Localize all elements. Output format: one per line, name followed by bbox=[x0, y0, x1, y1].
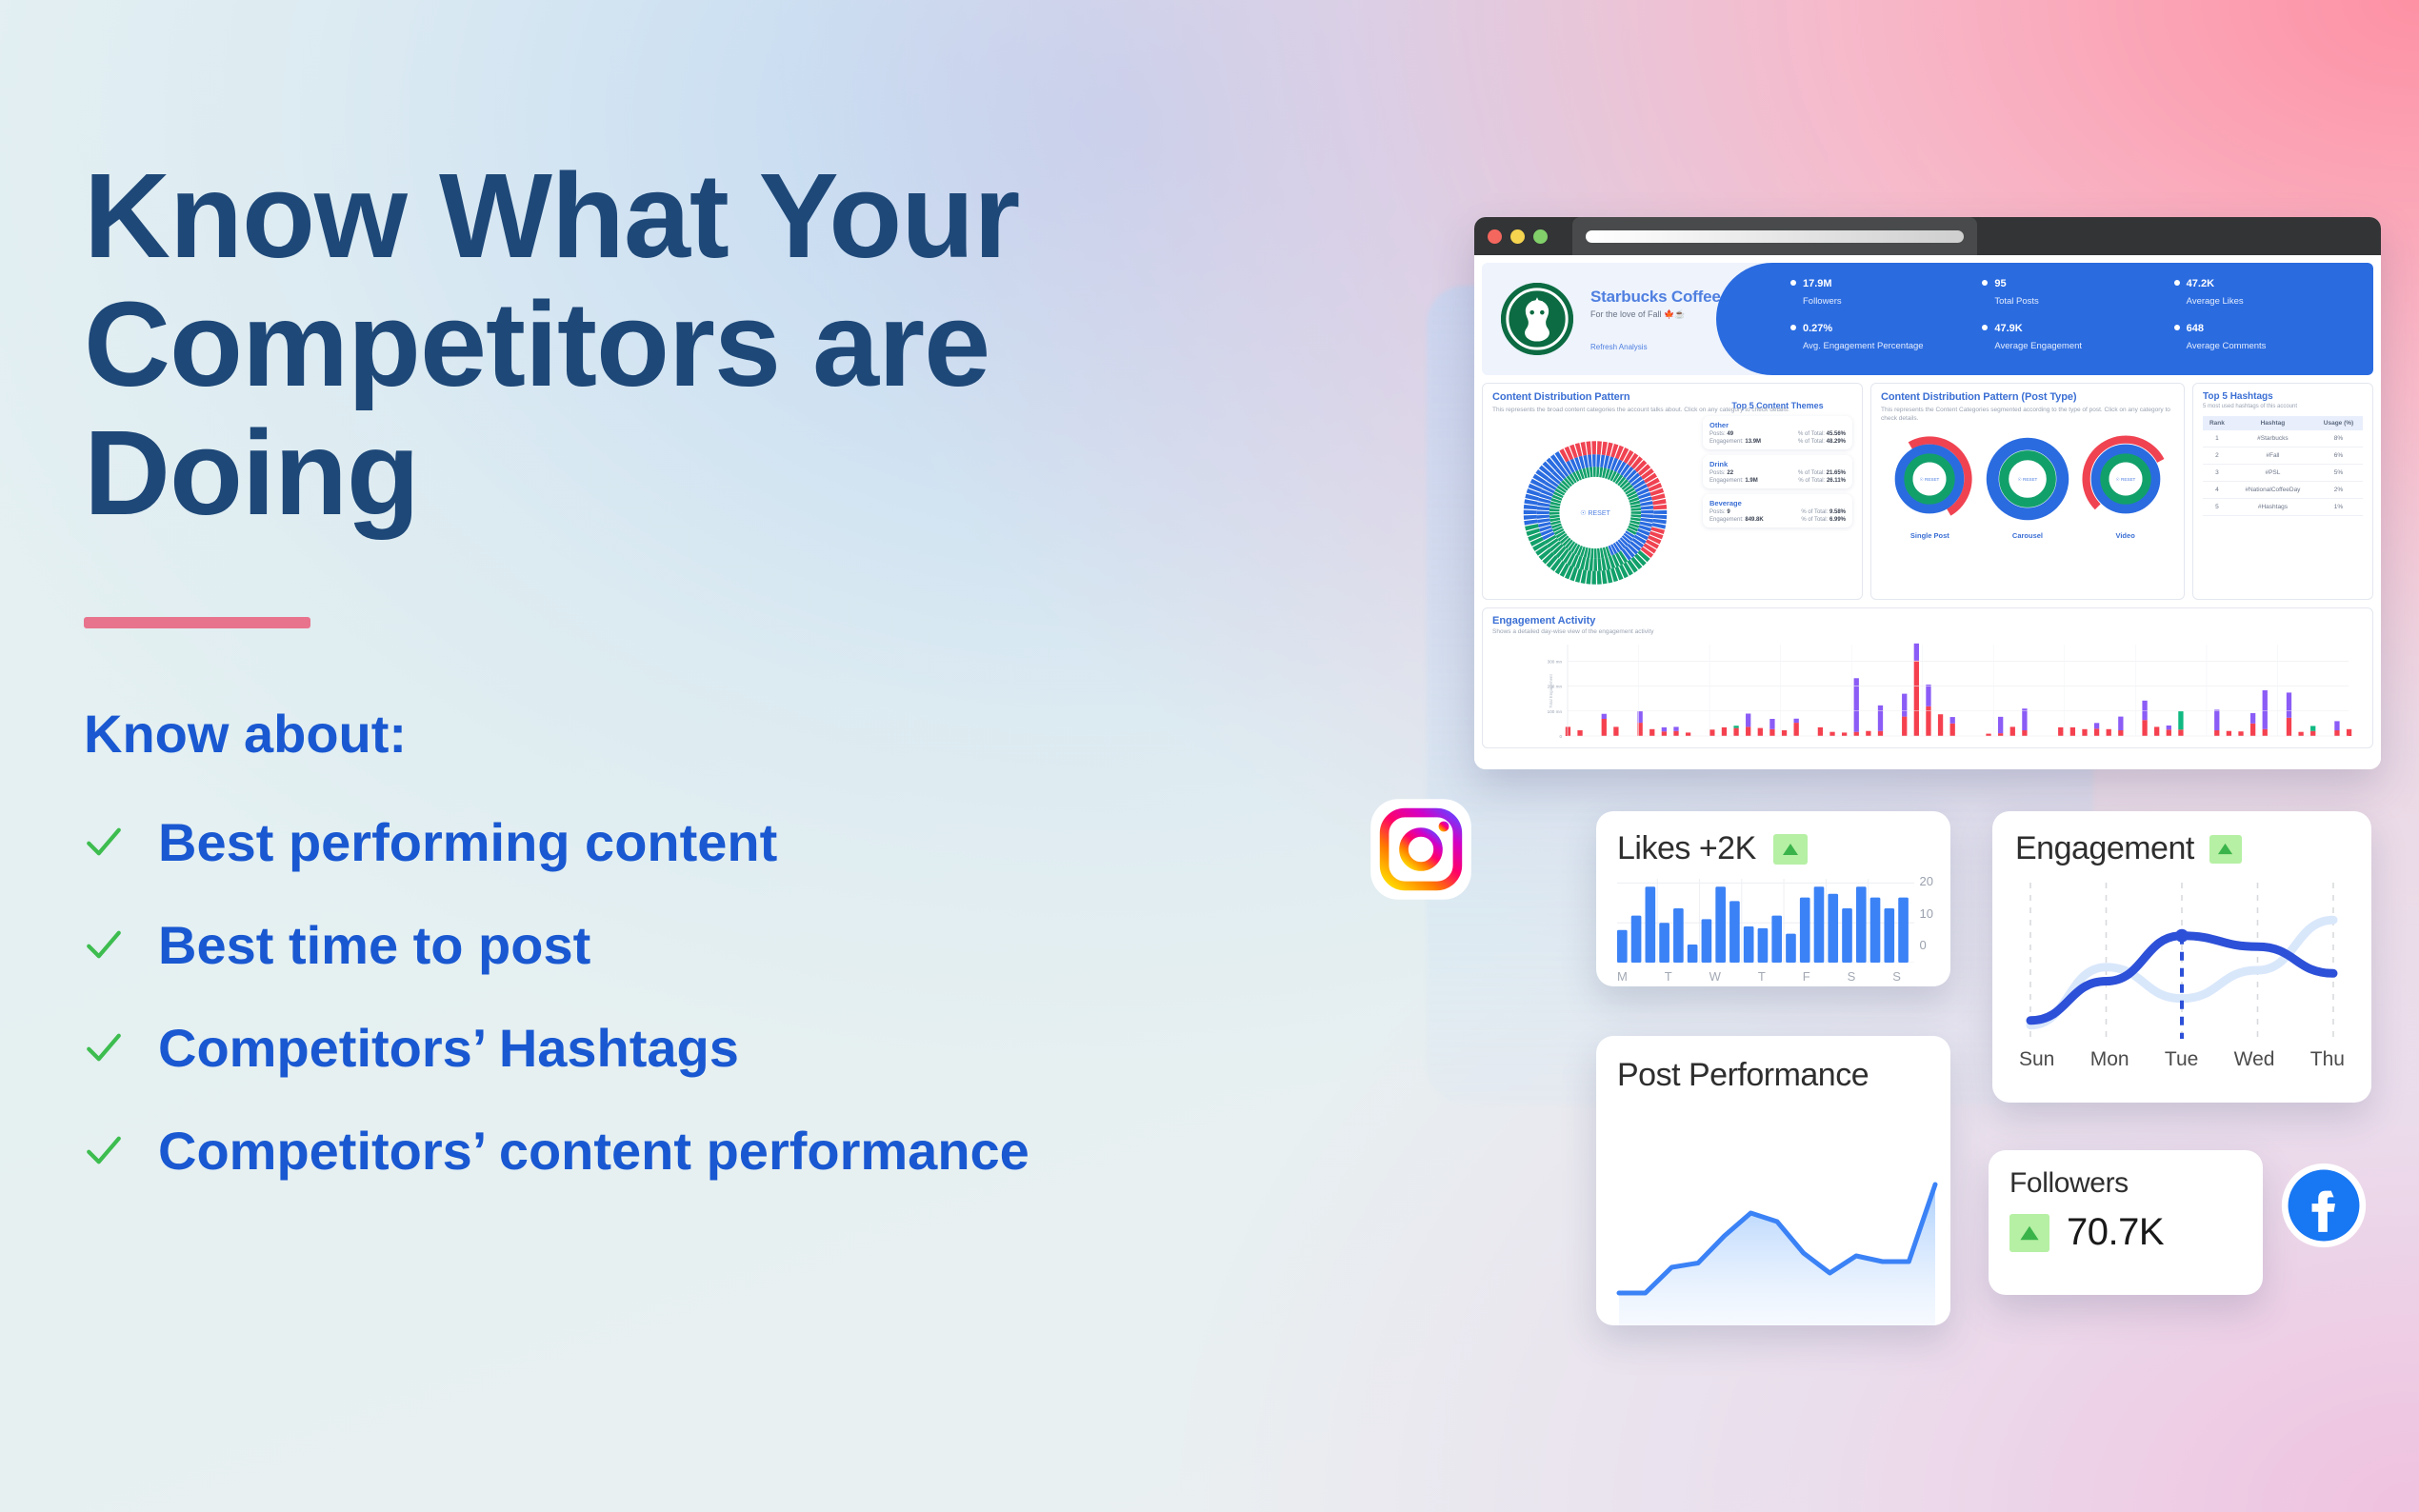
theme-posts-pct-value: 9.58% bbox=[1829, 509, 1846, 515]
theme-card[interactable]: Beverage Posts: 9 % of Total: 9.58% Enga… bbox=[1703, 494, 1852, 527]
cell-hashtag: #PSL bbox=[2231, 465, 2314, 482]
profile-header: Starbucks Coffee ☕ For the love of Fall … bbox=[1482, 263, 2373, 375]
check-icon bbox=[84, 925, 124, 965]
svg-text:0: 0 bbox=[1559, 734, 1562, 739]
x-tick-t2: T bbox=[1758, 969, 1766, 984]
card-likes: Likes +2K 20 10 0 M T W T F S S bbox=[1596, 811, 1950, 986]
cell-hashtag: #Fall bbox=[2231, 448, 2314, 465]
cell-usage: 2% bbox=[2314, 482, 2363, 499]
likes-x-axis: M T W T F S S bbox=[1617, 969, 1929, 984]
column-header-rank: Rank bbox=[2203, 416, 2231, 430]
theme-posts-pct-label: % of Total bbox=[1798, 431, 1823, 437]
tab-title-placeholder bbox=[1586, 230, 1964, 243]
engagement-activity-chart[interactable]: 0100 mn200 mn300 mnTotal Engagement bbox=[1492, 639, 2363, 744]
theme-eng-pct-value: 26.11% bbox=[1827, 478, 1846, 484]
x-tick-s2: S bbox=[1892, 969, 1901, 984]
donut-reset-label[interactable]: ☉ RESET bbox=[2115, 477, 2135, 482]
sunburst-svg: ☉ RESET bbox=[1500, 429, 1690, 596]
theme-card[interactable]: Other Posts: 49 % of Total: 45.56% Engag… bbox=[1703, 416, 1852, 449]
svg-text:Total Engagement: Total Engagement bbox=[1549, 674, 1553, 708]
cell-usage: 8% bbox=[2314, 430, 2363, 448]
panel-subtitle: 5 most used hashtags of this account bbox=[2203, 404, 2363, 409]
maximize-icon[interactable] bbox=[1533, 229, 1548, 244]
stat-total-posts: 95 Total Posts bbox=[1982, 274, 2164, 319]
card-title: Followers bbox=[2009, 1167, 2242, 1200]
facebook-icon[interactable] bbox=[2278, 1160, 2369, 1251]
theme-posts-value: 9 bbox=[1727, 509, 1729, 515]
stat-average-comments: 648 Average Comments bbox=[2174, 319, 2356, 364]
refresh-analysis-link[interactable]: Refresh Analysis bbox=[1590, 343, 1739, 351]
cell-usage: 1% bbox=[2314, 499, 2363, 516]
theme-posts-pct-value: 45.56% bbox=[1827, 431, 1846, 437]
donut-reset-label[interactable]: ☉ RESET bbox=[1920, 477, 1940, 482]
stat-label: Avg. Engagement Percentage bbox=[1803, 341, 1924, 351]
x-tick-m: M bbox=[1617, 969, 1628, 984]
donut-group: ☉ RESET Single Post ☉ RESET Carousel bbox=[1881, 435, 2174, 540]
panel-title: Engagement Activity bbox=[1492, 615, 2363, 627]
triangle-up-icon bbox=[1781, 841, 1800, 858]
window-chrome bbox=[1474, 217, 2381, 255]
minimize-icon[interactable] bbox=[1510, 229, 1525, 244]
theme-posts-label: Posts bbox=[1709, 470, 1724, 476]
donut-label: Video bbox=[2082, 531, 2169, 540]
theme-posts-value: 22 bbox=[1727, 470, 1733, 476]
table-row[interactable]: 4 #NationalCoffeeDay 2% bbox=[2203, 482, 2363, 499]
trend-up-badge bbox=[2009, 1214, 2049, 1252]
panel-title: Content Distribution Pattern bbox=[1492, 391, 1852, 403]
donut-label: Single Post bbox=[1886, 531, 1973, 540]
card-engagement: Engagement Sun Mon Tue Wed Thu bbox=[1992, 811, 2371, 1103]
engagement-line-chart[interactable] bbox=[2015, 877, 2349, 1046]
x-tick-thu: Thu bbox=[2310, 1048, 2345, 1071]
panel-subtitle: This represents the broad content catego… bbox=[1492, 406, 1852, 414]
donut-single-post[interactable]: ☉ RESET Single Post bbox=[1886, 435, 1973, 540]
theme-eng-pct-label: % of Total bbox=[1798, 478, 1823, 484]
theme-engagement-row: Engagement: 13.9M % of Total: 48.29% bbox=[1709, 439, 1846, 445]
cell-hashtag: #Hashtags bbox=[2231, 499, 2314, 516]
cell-hashtag: #NationalCoffeeDay bbox=[2231, 482, 2314, 499]
theme-posts-row: Posts: 49 % of Total: 45.56% bbox=[1709, 431, 1846, 437]
sunburst-reset-label[interactable]: ☉ RESET bbox=[1580, 509, 1610, 517]
theme-engagement-row: Engagement: 1.9M % of Total: 26.11% bbox=[1709, 478, 1846, 484]
post-performance-svg bbox=[1596, 1144, 1950, 1325]
donut-reset-label[interactable]: ☉ RESET bbox=[2018, 477, 2038, 482]
likes-bar-chart-svg bbox=[1617, 879, 1941, 963]
panel-top-hashtags: Top 5 Hashtags 5 most used hashtags of t… bbox=[2192, 383, 2373, 600]
bullet-dot-icon bbox=[1790, 325, 1796, 330]
donut-chart-svg: ☉ RESET bbox=[1984, 435, 2071, 523]
card-header: Engagement bbox=[2015, 830, 2349, 867]
cell-hashtag: #Starbucks bbox=[2231, 430, 2314, 448]
stat-average-engagement: 47.9K Average Engagement bbox=[1982, 319, 2164, 364]
cell-usage: 6% bbox=[2314, 448, 2363, 465]
list-item-label: Best time to post bbox=[158, 914, 590, 976]
triangle-up-icon bbox=[2018, 1223, 2041, 1243]
stat-followers: 17.9M Followers bbox=[1790, 274, 1972, 319]
theme-posts-row: Posts: 22 % of Total: 21.65% bbox=[1709, 470, 1846, 476]
likes-y-axis: 20 10 0 bbox=[1920, 875, 1933, 951]
trend-up-badge bbox=[1773, 834, 1808, 865]
theme-posts-pct-label: % of Total bbox=[1801, 509, 1826, 515]
x-tick-w: W bbox=[1709, 969, 1721, 984]
theme-eng-value: 849.8K bbox=[1745, 517, 1763, 523]
followers-value: 70.7K bbox=[2067, 1211, 2164, 1254]
avatar bbox=[1501, 283, 1573, 355]
svg-text:300 mn: 300 mn bbox=[1548, 659, 1563, 664]
theme-name: Beverage bbox=[1709, 499, 1846, 507]
donut-label: Carousel bbox=[1984, 531, 2071, 540]
list-item: Competitors’ content performance bbox=[84, 1113, 1417, 1187]
engagement-x-axis: Sun Mon Tue Wed Thu bbox=[2015, 1048, 2349, 1071]
sunburst-chart[interactable]: ☉ RESET bbox=[1492, 433, 1697, 591]
stat-label: Followers bbox=[1803, 296, 1842, 307]
y-tick-0: 0 bbox=[1920, 939, 1933, 951]
cell-rank: 3 bbox=[2203, 465, 2231, 482]
card-title: Engagement bbox=[2015, 830, 2194, 867]
donut-chart-svg: ☉ RESET bbox=[1886, 435, 1973, 523]
column-header-hashtag: Hashtag bbox=[2231, 416, 2314, 430]
stat-average-likes: 47.2K Average Likes bbox=[2174, 274, 2356, 319]
theme-posts-pct-value: 21.65% bbox=[1827, 470, 1846, 476]
card-header: Likes +2K bbox=[1617, 830, 1929, 867]
theme-card[interactable]: Drink Posts: 22 % of Total: 21.65% Engag… bbox=[1703, 455, 1852, 488]
theme-eng-pct-label: % of Total bbox=[1798, 439, 1823, 445]
triangle-up-icon bbox=[2216, 841, 2234, 857]
followers-value-row: 70.7K bbox=[2009, 1211, 2242, 1254]
theme-name: Drink bbox=[1709, 460, 1846, 468]
panel-post-type-distribution: Content Distribution Pattern (Post Type)… bbox=[1870, 383, 2185, 600]
column-header-usage: Usage (%) bbox=[2314, 416, 2363, 430]
browser-tab[interactable] bbox=[1572, 217, 1977, 255]
theme-engagement-row: Engagement: 849.8K % of Total: 6.99% bbox=[1709, 517, 1846, 523]
list-item: Best performing content bbox=[84, 805, 1417, 879]
card-followers: Followers 70.7K bbox=[1989, 1150, 2263, 1295]
bullet-dot-icon bbox=[1982, 280, 1988, 286]
cell-rank: 2 bbox=[2203, 448, 2231, 465]
trend-up-badge bbox=[2209, 835, 2242, 864]
y-tick-10: 10 bbox=[1920, 907, 1933, 920]
stat-value: 17.9M bbox=[1803, 278, 1832, 289]
panel-subtitle: Shows a detailed day-wise view of the en… bbox=[1492, 628, 2363, 635]
cell-rank: 4 bbox=[2203, 482, 2231, 499]
table-row[interactable]: 5 #Hashtags 1% bbox=[2203, 499, 2363, 516]
stat-value: 47.2K bbox=[2187, 278, 2214, 289]
accent-divider bbox=[84, 617, 310, 628]
theme-posts-label: Posts bbox=[1709, 431, 1724, 437]
bullet-dot-icon bbox=[2174, 325, 2180, 330]
theme-name: Other bbox=[1709, 421, 1846, 429]
theme-eng-pct-label: % of Total bbox=[1801, 517, 1826, 523]
theme-eng-label: Engagement bbox=[1709, 439, 1742, 445]
check-icon bbox=[84, 822, 124, 862]
stat-value: 648 bbox=[2187, 323, 2204, 334]
x-tick-wed: Wed bbox=[2234, 1048, 2275, 1071]
list-item-label: Competitors’ Hashtags bbox=[158, 1017, 739, 1079]
analytics-browser-window: Starbucks Coffee ☕ For the love of Fall … bbox=[1474, 217, 2381, 769]
stat-label: Average Comments bbox=[2187, 341, 2267, 351]
donut-carousel[interactable]: ☉ RESET Carousel bbox=[1984, 435, 2071, 540]
stat-value: 47.9K bbox=[1994, 323, 2022, 334]
close-icon[interactable] bbox=[1488, 229, 1502, 244]
svg-text:100 mn: 100 mn bbox=[1548, 709, 1563, 714]
theme-posts-label: Posts bbox=[1709, 509, 1724, 515]
stat-value: 0.27% bbox=[1803, 323, 1832, 334]
engagement-chart-svg bbox=[2015, 877, 2349, 1046]
theme-eng-label: Engagement bbox=[1709, 478, 1742, 484]
window-controls[interactable] bbox=[1488, 229, 1548, 244]
list-item-label: Competitors’ content performance bbox=[158, 1120, 1030, 1182]
donut-chart-svg: ☉ RESET bbox=[2082, 435, 2169, 523]
starbucks-logo-icon bbox=[1501, 283, 1573, 355]
likes-chart[interactable]: 20 10 0 bbox=[1617, 879, 1929, 966]
hashtags-table: Rank Hashtag Usage (%) 1 #Starbucks 8% 2 bbox=[2203, 416, 2363, 516]
panel-content-distribution: Content Distribution Pattern This repres… bbox=[1482, 383, 1863, 600]
stat-label: Average Engagement bbox=[1994, 341, 2082, 351]
table-row[interactable]: 1 #Starbucks 8% bbox=[2203, 430, 2363, 448]
bullet-dot-icon bbox=[1982, 325, 1988, 330]
table-row[interactable]: 2 #Fall 6% bbox=[2203, 448, 2363, 465]
dashboard-viewport: Starbucks Coffee ☕ For the love of Fall … bbox=[1474, 255, 2381, 769]
feature-list: Best performing content Best time to pos… bbox=[84, 805, 1417, 1187]
engagement-activity-axis: 0100 mn200 mn300 mnTotal Engagement bbox=[1492, 639, 2363, 744]
instagram-icon[interactable] bbox=[1364, 792, 1478, 906]
theme-eng-value: 1.9M bbox=[1745, 478, 1757, 484]
stat-value: 95 bbox=[1994, 278, 2006, 289]
list-item-label: Best performing content bbox=[158, 811, 777, 873]
profile-stats-panel: 17.9M Followers 95 Total Posts 47.2K Ave… bbox=[1716, 263, 2373, 375]
panel-title: Content Distribution Pattern (Post Type) bbox=[1881, 391, 2174, 403]
list-item: Competitors’ Hashtags bbox=[84, 1010, 1417, 1084]
panel-subtitle: This represents the Content Categories s… bbox=[1881, 406, 2174, 424]
cell-rank: 1 bbox=[2203, 430, 2231, 448]
x-tick-s1: S bbox=[1848, 969, 1856, 984]
x-tick-t1: T bbox=[1665, 969, 1672, 984]
card-title: Post Performance bbox=[1617, 1057, 1929, 1094]
cell-rank: 5 bbox=[2203, 499, 2231, 516]
theme-posts-value: 49 bbox=[1727, 431, 1733, 437]
theme-eng-pct-value: 6.99% bbox=[1829, 517, 1846, 523]
page-title: Know What Your Competitors are Doing bbox=[84, 152, 1350, 537]
card-post-performance: Post Performance bbox=[1596, 1036, 1950, 1325]
know-about-label: Know about: bbox=[84, 703, 1417, 765]
cell-usage: 5% bbox=[2314, 465, 2363, 482]
x-tick-f: F bbox=[1803, 969, 1810, 984]
dashboard-panels: Content Distribution Pattern This repres… bbox=[1482, 383, 2373, 600]
theme-eng-value: 13.9M bbox=[1745, 439, 1761, 445]
bullet-dot-icon bbox=[2174, 280, 2180, 286]
y-tick-20: 20 bbox=[1920, 875, 1933, 887]
theme-posts-pct-label: % of Total bbox=[1798, 470, 1823, 476]
content-themes-list: Top 5 Content Themes Other Posts: 49 % o… bbox=[1697, 391, 1852, 591]
x-tick-tue: Tue bbox=[2165, 1048, 2198, 1071]
stat-avg-engagement-percentage: 0.27% Avg. Engagement Percentage bbox=[1790, 319, 1972, 364]
x-tick-mon: Mon bbox=[2090, 1048, 2129, 1071]
theme-eng-pct-value: 48.29% bbox=[1827, 439, 1846, 445]
hero-section: Know What Your Competitors are Doing Kno… bbox=[84, 152, 1417, 1216]
post-performance-chart[interactable] bbox=[1596, 1144, 1950, 1325]
check-icon bbox=[84, 1027, 124, 1067]
check-icon bbox=[84, 1130, 124, 1170]
donut-video[interactable]: ☉ RESET Video bbox=[2082, 435, 2169, 540]
table-header-row: Rank Hashtag Usage (%) bbox=[2203, 416, 2363, 430]
stat-label: Total Posts bbox=[1994, 296, 2038, 307]
table-row[interactable]: 3 #PSL 5% bbox=[2203, 465, 2363, 482]
profile-name: Starbucks Coffee ☕ bbox=[1590, 288, 1739, 307]
card-title: Likes +2K bbox=[1617, 830, 1756, 867]
bullet-dot-icon bbox=[1790, 280, 1796, 286]
theme-eng-label: Engagement bbox=[1709, 517, 1742, 523]
list-item: Best time to post bbox=[84, 907, 1417, 982]
x-tick-sun: Sun bbox=[2019, 1048, 2054, 1071]
theme-posts-row: Posts: 9 % of Total: 9.58% bbox=[1709, 509, 1846, 515]
panel-engagement-activity: Engagement Activity Shows a detailed day… bbox=[1482, 607, 2373, 748]
panel-title: Top 5 Hashtags bbox=[2203, 391, 2363, 402]
stat-label: Average Likes bbox=[2187, 296, 2244, 307]
